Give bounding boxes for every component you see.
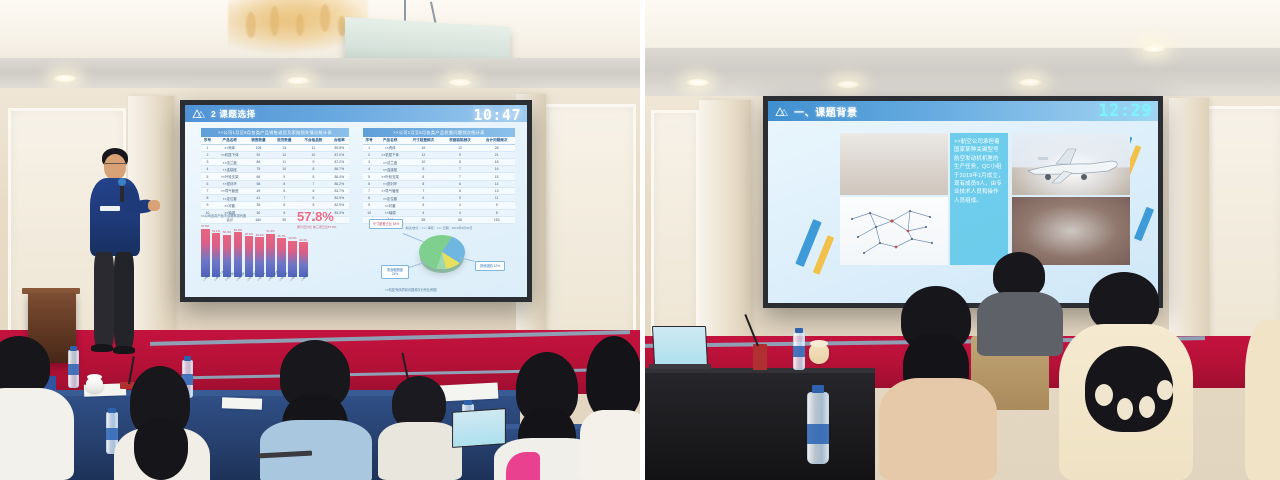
table-right-caption: ××公司1月至6月各类产品质量问题频次统计表 <box>363 128 515 137</box>
tshirt-graphic-notch <box>1095 384 1113 406</box>
table-right-block: ××公司1月至6月各类产品质量问题频次统计表 序号 产品名称 尺寸超差频次 表面… <box>363 128 515 230</box>
bar <box>212 233 221 277</box>
pie-chart-block: 尺寸超差占比 54% 表面粗糙度 24% 其他缺陷 12% ××机匣壳体质量问题… <box>367 217 517 295</box>
microphone-base <box>753 344 767 370</box>
table-cell: ××法兰盘 <box>214 159 246 166</box>
table-cell: 8 <box>405 173 442 180</box>
factory-workshop-photo <box>840 133 948 195</box>
teacup <box>86 378 103 393</box>
mountain-triangle-logo <box>775 106 789 117</box>
network-diagram-photo <box>840 197 948 265</box>
decor-stripe-blue-3 <box>1134 207 1154 242</box>
table-cell: 4 <box>201 166 214 173</box>
col-header: 合格率 <box>330 137 349 144</box>
audience-hair <box>586 336 640 420</box>
audience-hair <box>1089 272 1159 332</box>
pie-callout-main: 尺寸超差占比 54% <box>369 219 403 229</box>
table-cell: 28 <box>478 144 515 151</box>
table-cell: 10 <box>297 151 329 158</box>
presenter-left-leg <box>94 252 114 348</box>
table-cell: 7 <box>271 195 297 202</box>
table-cell: 90 <box>271 216 297 223</box>
hair-tail <box>134 418 188 480</box>
table-cell: ××轴颈 <box>375 209 405 216</box>
col-header: 销售数量 <box>245 137 271 144</box>
col-header: 合计问题频次 <box>478 137 515 144</box>
table-cell: 5 <box>405 202 442 209</box>
pie-chart-caption: ××机匣壳体质量问题频次分布比例图 <box>385 287 437 292</box>
table-cell: 41 <box>245 195 271 202</box>
table-cell: ××叶轮支架 <box>375 173 405 180</box>
bar-value-label: 51.3% <box>266 229 274 233</box>
table-cell: 9 <box>363 202 375 209</box>
aircraft-photo <box>1012 133 1130 195</box>
table-cell: 87.2% <box>330 159 349 166</box>
tshirt-graphic-notch <box>1157 380 1173 400</box>
presenter-right-leg <box>114 252 134 348</box>
table-cell: ××衬套 <box>375 202 405 209</box>
aircraft-svg <box>1012 133 1130 195</box>
table-cell: 5 <box>442 195 479 202</box>
table-cell: 66 <box>245 173 271 180</box>
table-row: 4××连接座9716 <box>363 166 515 173</box>
table-row: 8××定位套6511 <box>363 195 515 202</box>
table-cell: 35 <box>245 202 271 209</box>
table-cell: 9 <box>297 159 329 166</box>
table-cell: 6 <box>363 180 375 187</box>
bar-column: 42.0% <box>288 236 297 277</box>
bar-column: 53.6% <box>234 228 243 277</box>
audience-body <box>1245 320 1280 480</box>
table-cell: ××密封环 <box>214 180 246 187</box>
col-header: 退货数量 <box>271 137 297 144</box>
table-cell: 14 <box>478 180 515 187</box>
table-cell: 12 <box>405 151 442 158</box>
downlight <box>447 78 473 87</box>
press-table <box>645 373 875 480</box>
presenter-shoe-left <box>91 344 113 352</box>
table-cell: 1 <box>201 144 214 151</box>
table-cell: 5 <box>201 173 214 180</box>
bar-value-label: 50.4% <box>223 230 231 234</box>
pie-callout-left: 表面粗糙度 24% <box>381 265 409 279</box>
bar-value-label: 48.2% <box>245 232 253 236</box>
table-cell: 8 <box>442 159 479 166</box>
network-diagram-svg <box>840 197 948 265</box>
col-header: 序号 <box>363 137 375 144</box>
downlight <box>52 74 78 83</box>
table-cell: 6 <box>405 195 442 202</box>
table-cell: ××定位套 <box>375 195 405 202</box>
left-room: 2 课题选择 10:47 ××公司1月至6月各类产品销售退货及索赔损失情况统计表… <box>0 0 640 480</box>
bar-value-label: 53.6% <box>234 228 242 232</box>
audience-body <box>580 410 640 480</box>
table-cell: 5 <box>297 202 329 209</box>
table-cell: ××法兰盘 <box>375 159 405 166</box>
table-cell: 16 <box>478 166 515 173</box>
table-cell: 8 <box>271 187 297 194</box>
bar-column: 51.3% <box>266 229 275 277</box>
table-cell: 11 <box>271 159 297 166</box>
col-header: 产品名称 <box>214 137 246 144</box>
presenter-glasses <box>105 163 125 167</box>
table-cell: 1 <box>363 144 375 151</box>
bar-column: 48.2% <box>245 232 254 277</box>
table-cell: 3 <box>201 159 214 166</box>
teacup-lid <box>87 374 102 380</box>
bar-value-label: 45.7% <box>277 234 285 238</box>
bar <box>266 234 275 277</box>
downlight <box>1017 78 1043 87</box>
photo-collage: 2 课题选择 10:47 ××公司1月至6月各类产品销售退货及索赔损失情况统计表… <box>0 0 1280 480</box>
water-bottle-2 <box>807 392 829 464</box>
audience-body <box>879 378 997 480</box>
pie-leader-line <box>403 233 424 242</box>
bar-column: 52.1% <box>212 229 221 277</box>
wall-panel-left <box>651 110 699 350</box>
bar <box>201 229 210 277</box>
bar <box>223 235 232 277</box>
countdown-timer: 12:29 <box>1098 101 1152 121</box>
table-row: 8××定位套417582.9% <box>201 195 349 202</box>
table-cell: ××连接座 <box>375 166 405 173</box>
teacup-lid <box>810 340 828 347</box>
table-row: 6××密封环588786.2% <box>201 180 349 187</box>
tshirt-graphic-notch <box>1117 398 1133 420</box>
table-cell: 8 <box>201 195 214 202</box>
right-photo: 一、课题背景 12:29 <box>640 0 1280 480</box>
bar <box>288 241 297 277</box>
downlight <box>835 80 861 89</box>
table-cell: 11 <box>297 144 329 151</box>
table-row: 9××衬套549 <box>363 202 515 209</box>
bar-chart: 57.8%52.1%50.4%53.6%48.2%46.9%51.3%45.7%… <box>201 225 308 277</box>
bar <box>245 236 254 277</box>
table-right-body: 1××壳体1612282××机匣下体129213××法兰盘108184××连接座… <box>363 144 515 223</box>
table-cell: 3 <box>363 159 375 166</box>
table-cell: ××机匣下体 <box>214 151 246 158</box>
table-cell: 7 <box>297 180 329 187</box>
pie-leader-line-2 <box>409 261 426 267</box>
projection-screen: 一、课题背景 12:29 <box>768 101 1158 303</box>
table-cell: ××叶轮支架 <box>214 173 246 180</box>
table-row: 5××叶轮支架8715 <box>363 173 515 180</box>
table-cell: 83.7% <box>330 187 349 194</box>
col-header: 产品名称 <box>375 137 405 144</box>
table-cell: 92 <box>245 151 271 158</box>
bar-chart-highlight: 57.8% <box>297 209 334 224</box>
audience-body <box>0 388 74 480</box>
audience-body <box>378 422 462 480</box>
bar-value-label: 52.1% <box>212 229 220 233</box>
table-cell: 6 <box>271 202 297 209</box>
table-cell: 10 <box>363 209 375 216</box>
table-cell: 87.0% <box>330 151 349 158</box>
table-cell: 8 <box>297 173 329 180</box>
table-cell: 640 <box>245 216 271 223</box>
wall-panel-right <box>1205 106 1280 352</box>
table-cell: 13 <box>478 187 515 194</box>
downlight <box>685 78 711 87</box>
laptop-base <box>649 364 711 369</box>
table-cell: ××导气管座 <box>214 187 246 194</box>
audience-body <box>977 292 1063 356</box>
water-bottle <box>68 350 79 388</box>
background-text-block: ××航空公司承担着国家某种关键型号航空发动机机匣的生产任务，QC小组于2019年… <box>950 133 1008 265</box>
bar <box>299 242 308 277</box>
bar-value-label: 42.0% <box>288 236 296 240</box>
table-row: 6××密封环8614 <box>363 180 515 187</box>
table-cell: 8 <box>271 180 297 187</box>
table-row: 3××法兰盘10818 <box>363 159 515 166</box>
table-row: 10××轴颈448 <box>363 209 515 216</box>
table-cell: 5 <box>271 209 297 216</box>
slide-title: 2 课题选择 <box>211 108 256 120</box>
table-cell: 8 <box>478 209 515 216</box>
bar-chart-caption: ××公司各类产品不合格率排列图 <box>201 213 246 218</box>
col-header: 表面缺陷频次 <box>442 137 479 144</box>
table-cell: 21 <box>478 151 515 158</box>
table-header-row: 序号 产品名称 尺寸超差频次 表面缺陷频次 合计问题频次 <box>363 137 515 144</box>
table-cell: 86.7% <box>330 166 349 173</box>
projection-screen-frame: 一、课题背景 12:29 <box>763 96 1163 308</box>
table-cell: 7 <box>363 187 375 194</box>
right-room: 一、课题背景 12:29 <box>645 0 1280 480</box>
bar <box>234 232 243 277</box>
downlight <box>1141 44 1167 53</box>
table-row: 2××机匣下体12921 <box>363 151 515 158</box>
bar-value-label: 40.4% <box>299 238 307 242</box>
table-cell: 10 <box>405 159 442 166</box>
table-cell: 4 <box>363 166 375 173</box>
bar-column: 57.8% <box>201 224 210 277</box>
table-cell: 86.2% <box>330 180 349 187</box>
bar-value-label: 57.8% <box>201 224 209 228</box>
table-header-row: 序号 产品名称 销售数量 退货数量 不合格品数 合格率 <box>201 137 349 144</box>
table-cell: 8 <box>363 195 375 202</box>
table-cell: 49 <box>245 187 271 194</box>
table-cell: 6 <box>442 180 479 187</box>
table-cell: 82.9% <box>330 202 349 209</box>
table-cell: 7 <box>405 187 442 194</box>
audience-body <box>260 420 372 480</box>
table-row: 7××导气管座498683.7% <box>201 187 349 194</box>
bar-column: 50.4% <box>223 230 232 277</box>
table-cell: 86 <box>245 159 271 166</box>
table-cell: 16 <box>405 144 442 151</box>
slide-title: 一、课题背景 <box>794 104 858 119</box>
projection-screen-frame: 2 课题选择 10:47 ××公司1月至6月各类产品销售退货及索赔损失情况统计表… <box>180 100 532 302</box>
downlight <box>285 76 311 85</box>
col-header: 尺寸超差频次 <box>405 137 442 144</box>
table-cell: 12 <box>271 151 297 158</box>
bar-chart-highlight-note: 累计百分比 前三项已达57.8% <box>297 225 361 229</box>
table-cell: 7 <box>201 187 214 194</box>
table-cell: 6 <box>442 187 479 194</box>
table-cell: ××机匣下体 <box>375 151 405 158</box>
table-cell: 58 <box>245 180 271 187</box>
microphone-head <box>118 178 126 186</box>
col-header: 不合格品数 <box>297 137 329 144</box>
table-cell: 8 <box>297 166 329 173</box>
presenter-left-hand <box>148 200 160 211</box>
table-cell: ××壳体 <box>375 144 405 151</box>
table-right: 序号 产品名称 尺寸超差频次 表面缺陷频次 合计问题频次 1××壳体161228… <box>363 137 515 224</box>
decor-stripe-yellow <box>813 235 834 275</box>
pillar-right <box>1169 98 1209 352</box>
table-cell: 2 <box>201 151 214 158</box>
table-cell: 6 <box>201 180 214 187</box>
wall-panel-right <box>540 104 636 344</box>
table-cell: 12 <box>442 144 479 151</box>
table-cell: 10 <box>271 166 297 173</box>
col-header: 序号 <box>201 137 214 144</box>
table-cell: 108 <box>245 144 271 151</box>
table-cell: ××连接座 <box>214 166 246 173</box>
table-row: 7××导气管座7613 <box>363 187 515 194</box>
table-cell: 6 <box>297 187 329 194</box>
table-cell: 75 <box>245 166 271 173</box>
table-row: 2××机匣下体92121087.0% <box>201 151 349 158</box>
papers-on-table-2 <box>222 397 262 409</box>
table-cell: 82.9% <box>330 195 349 202</box>
presenter-badge <box>100 206 120 211</box>
table-cell: 4 <box>405 209 442 216</box>
projection-screen: 2 课题选择 10:47 ××公司1月至6月各类产品销售退货及索赔损失情况统计表… <box>185 105 527 297</box>
table-row: 1××壳体161228 <box>363 144 515 151</box>
presenter-head <box>104 154 126 180</box>
table-row: 1××壳体108141189.8% <box>201 144 349 151</box>
table-row: 9××衬套356582.9% <box>201 202 349 209</box>
table-cell: 7 <box>442 173 479 180</box>
table-cell: ××衬套 <box>214 202 246 209</box>
table-cell: 18 <box>478 159 515 166</box>
table-cell: 9 <box>271 173 297 180</box>
table-cell: 5 <box>297 195 329 202</box>
table-cell: 7 <box>442 166 479 173</box>
bar-column: 40.4% <box>299 238 308 277</box>
table-row: 3××法兰盘8611987.2% <box>201 159 349 166</box>
bar-value-label: 46.9% <box>256 233 264 237</box>
presenter-shoe-right <box>113 346 135 354</box>
table-cell: 14 <box>271 144 297 151</box>
table-cell: 4 <box>442 202 479 209</box>
table-cell: 30 <box>245 209 271 216</box>
table-cell: ××壳体 <box>214 144 246 151</box>
table-cell: ××定位套 <box>214 195 246 202</box>
table-cell: 9 <box>405 166 442 173</box>
countdown-timer: 10:47 <box>473 106 521 124</box>
left-presenter <box>78 148 158 370</box>
pie-callout-right: 其他缺陷 12% <box>475 261 505 271</box>
laptop-screen <box>652 326 708 366</box>
mountain-triangle-logo <box>192 108 206 119</box>
table-cell: 9 <box>478 202 515 209</box>
table-cell: ××导气管座 <box>375 187 405 194</box>
water-bottle <box>793 332 805 370</box>
teacup <box>809 344 829 364</box>
table-cell: 11 <box>478 195 515 202</box>
table-cell: 89.8% <box>330 144 349 151</box>
table-cell: 8 <box>405 180 442 187</box>
bar-chart-axis: ××壳体××机匣下体××法兰盘××连接座××叶轮支架××密封环××导气管座××定… <box>202 279 309 283</box>
table-cell: 9 <box>201 202 214 209</box>
papers-on-table-3 <box>440 382 499 401</box>
table-cell: 2 <box>363 151 375 158</box>
laptop-screen <box>452 408 506 448</box>
table-cell: 86.4% <box>330 173 349 180</box>
table-cell: 4 <box>442 209 479 216</box>
pie-chart <box>419 235 465 269</box>
table-cell: 9 <box>442 151 479 158</box>
table-left-caption: ××公司1月至6月各类产品销售退货及索赔损失情况统计表 <box>201 128 349 137</box>
table-cell: 15 <box>478 173 515 180</box>
table-cell: ××密封环 <box>375 180 405 187</box>
table-row: 4××连接座7510886.7% <box>201 166 349 173</box>
tshirt-graphic-notch <box>1139 396 1155 418</box>
left-photo: 2 课题选择 10:47 ××公司1月至6月各类产品销售退货及索赔损失情况统计表… <box>0 0 640 480</box>
bar-column: 45.7% <box>277 234 286 277</box>
table-row: 5××叶轮支架669886.4% <box>201 173 349 180</box>
table-cell: 5 <box>363 173 375 180</box>
